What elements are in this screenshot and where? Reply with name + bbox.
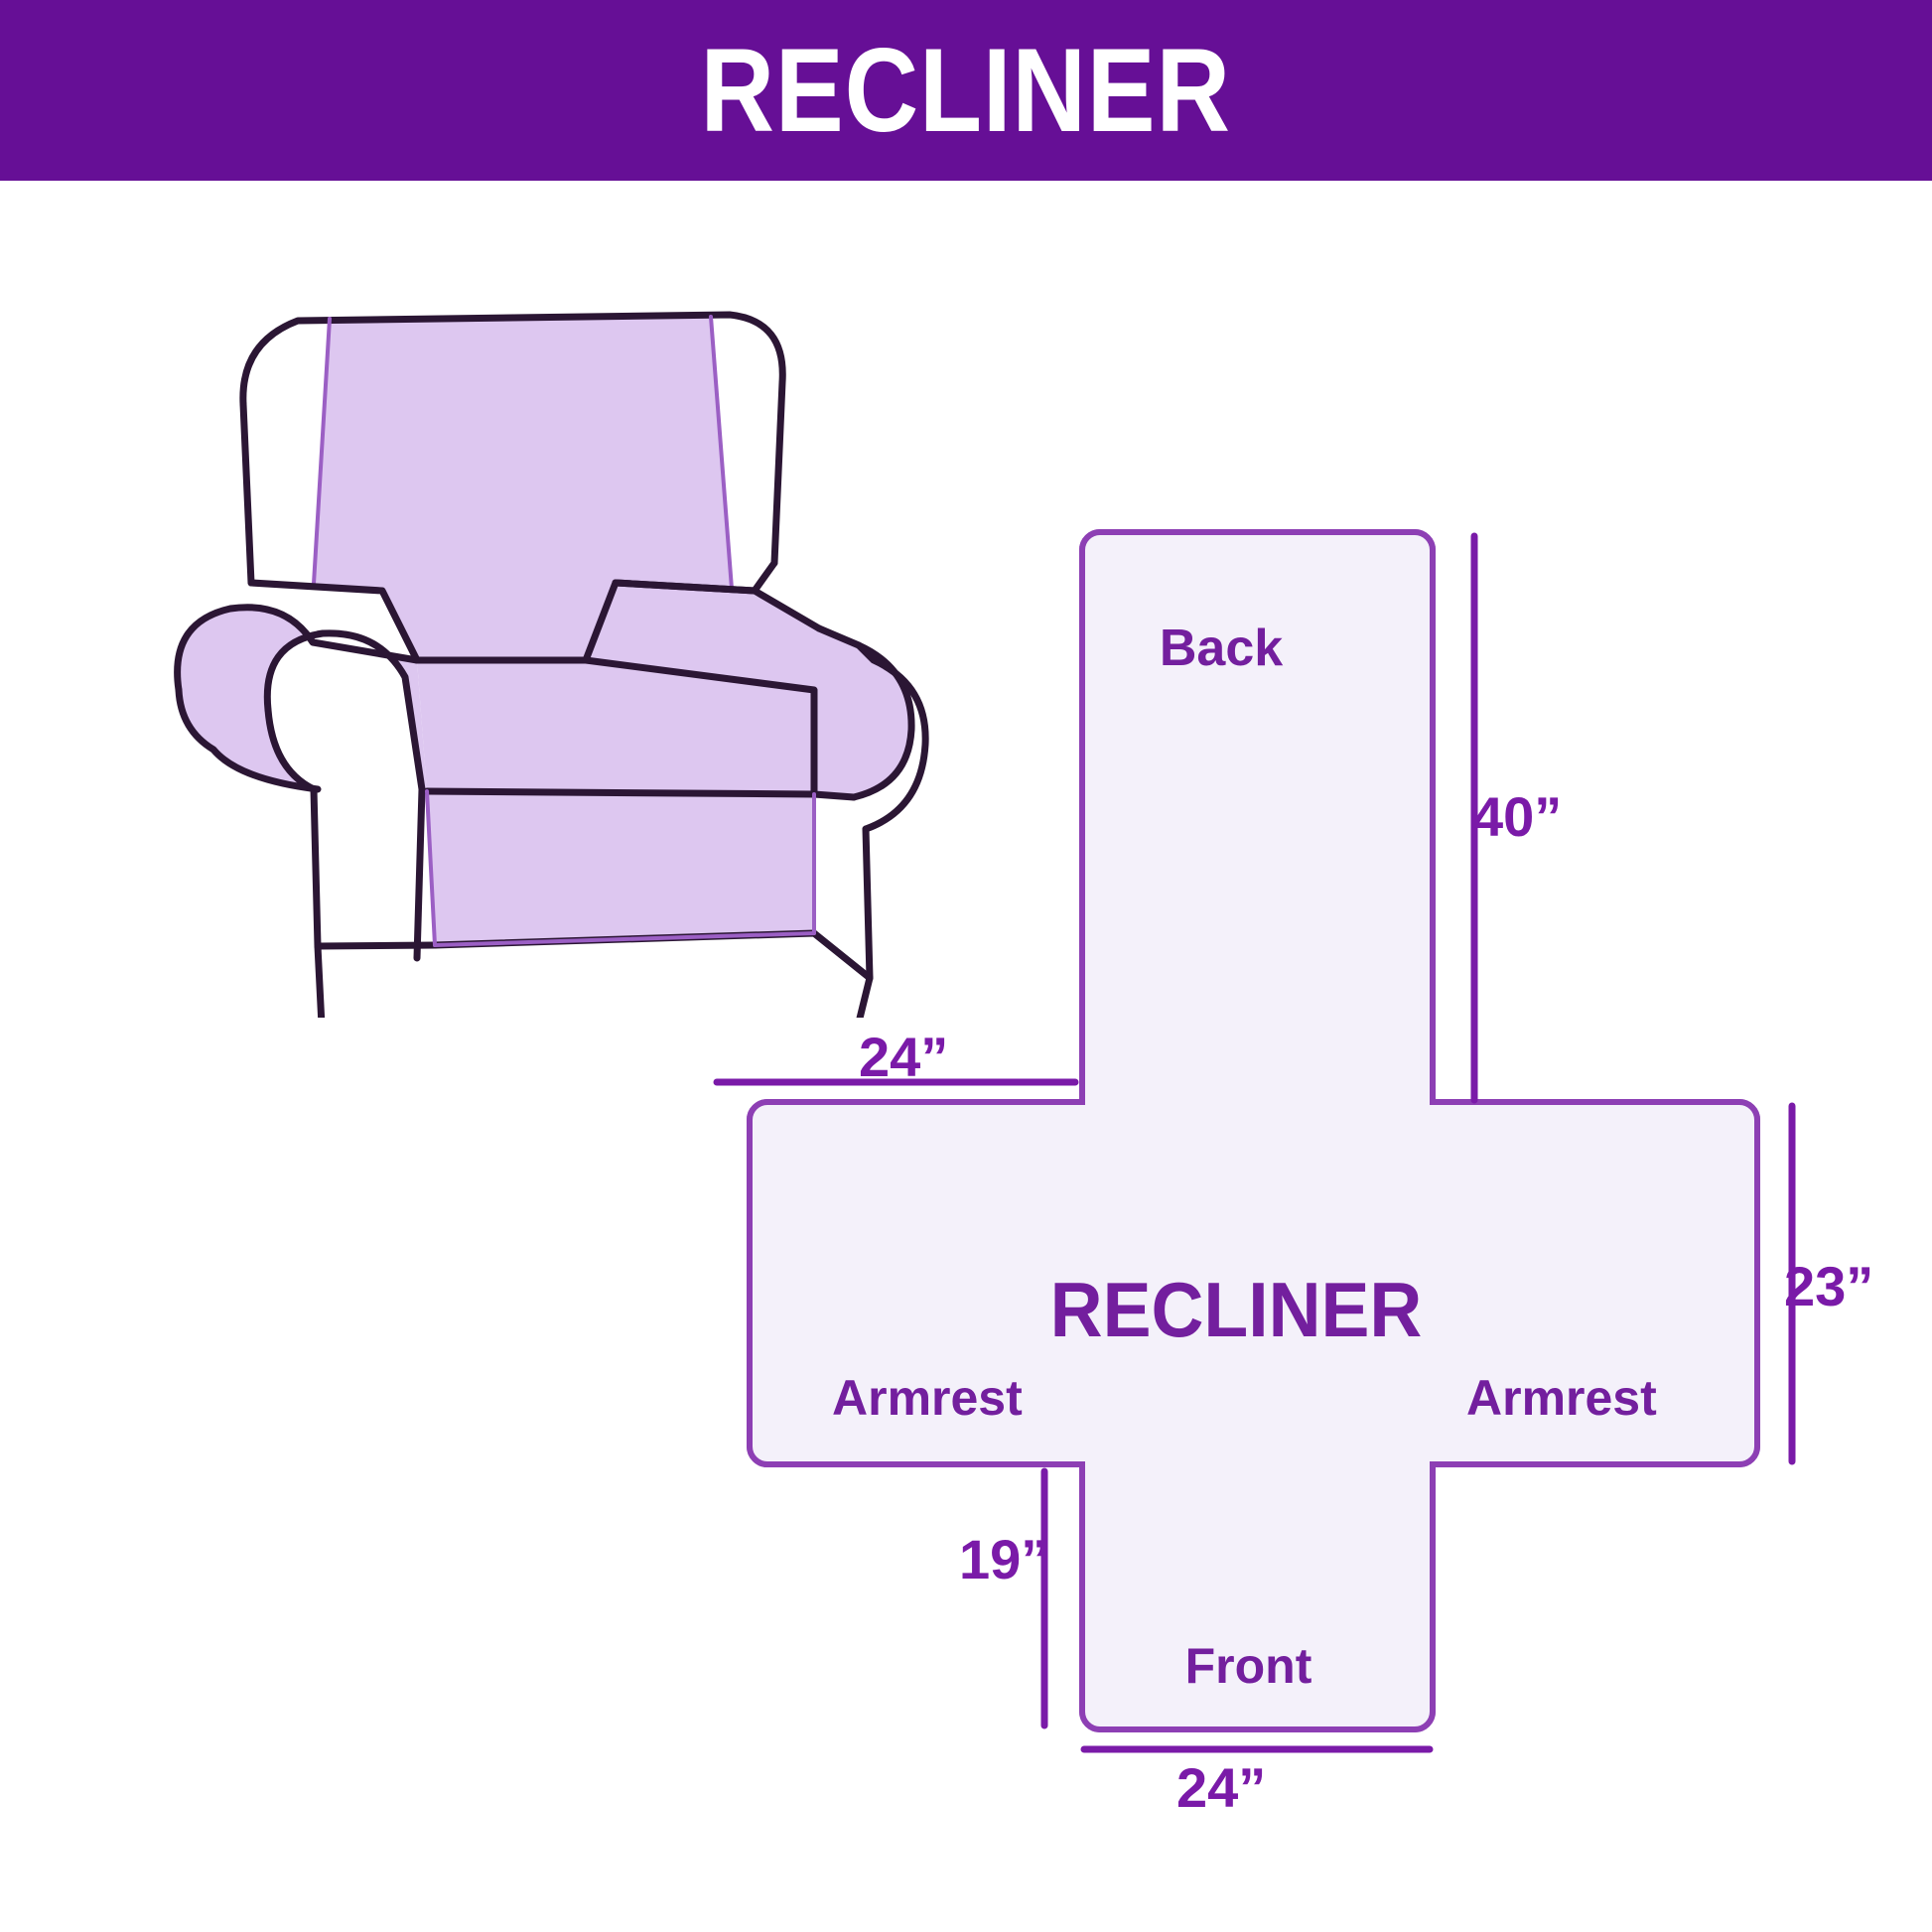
header-banner: RECLINER	[0, 0, 1932, 181]
dimension-label-armrest-row-height: 23”	[1784, 1259, 1873, 1314]
dimension-label-back-height: 40”	[1472, 789, 1562, 845]
cover-section-label-armrest-right: Armrest	[1466, 1373, 1657, 1423]
page-title: RECLINER	[701, 31, 1231, 150]
cover-center-label: RECLINER	[1049, 1271, 1423, 1348]
cover-section-label-armrest-left: Armrest	[832, 1373, 1023, 1423]
dimension-label-front-height: 19”	[959, 1532, 1048, 1587]
cover-section-label-front: Front	[1077, 1641, 1420, 1691]
dimension-label-armrest-width-top: 24”	[859, 1030, 948, 1085]
cover-section-label-back: Back	[1023, 622, 1420, 674]
cover-cross-shape	[735, 516, 1787, 1747]
dimension-label-front-width: 24”	[1176, 1760, 1266, 1816]
